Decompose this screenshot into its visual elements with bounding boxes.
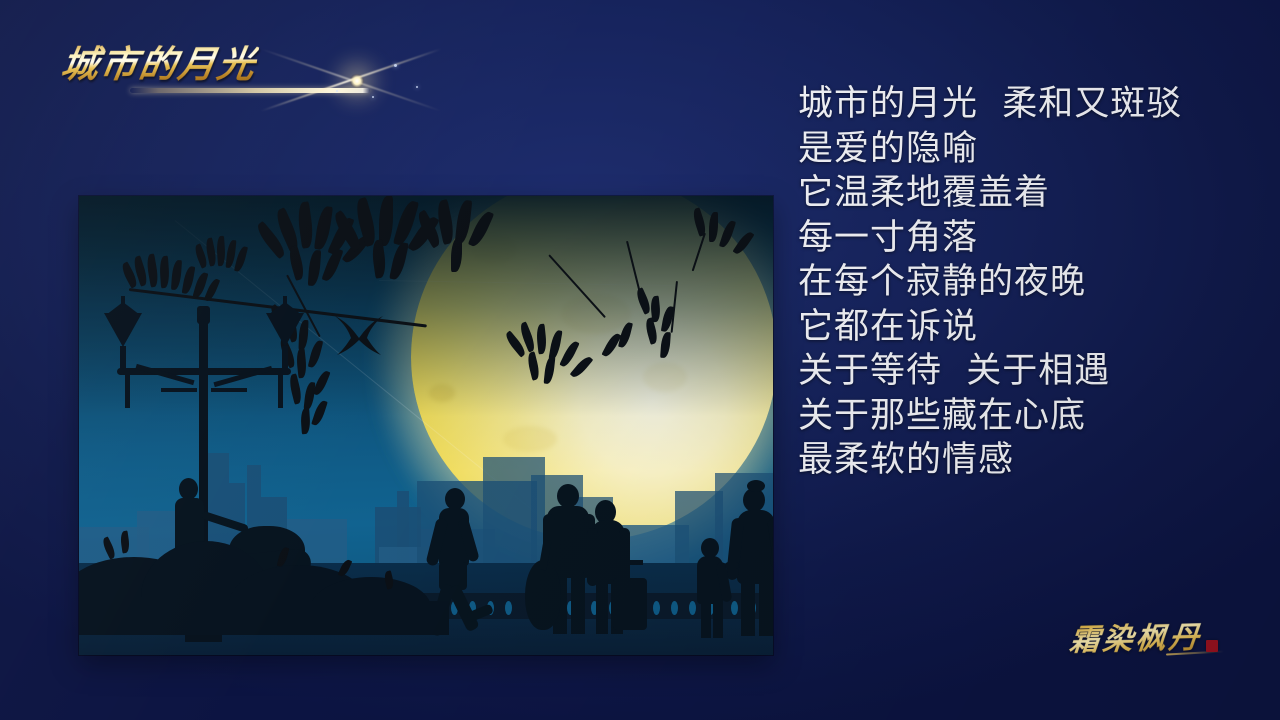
lyric-line: 是爱的隐喻 [798,127,1258,172]
page-title: 城市的月光 [58,34,262,88]
lyrics-block: 城市的月光 柔和又斑驳 是爱的隐喻 它温柔地覆盖着 每一寸角落 在每个寂静的夜晚… [798,82,1258,483]
lyric-line: 城市的月光 柔和又斑驳 [798,82,1258,127]
title-lockup: 城市的月光 [62,34,392,104]
flare-streak-icon [261,48,441,112]
lyric-line: 关于那些藏在心底 [798,394,1258,439]
flying-bird-silhouette [331,312,387,358]
red-seal-stamp [1206,640,1218,652]
moonlit-city-silhouette-photo [79,196,773,655]
flare-core-icon [350,74,364,88]
lyric-line: 每一寸角落 [798,216,1258,261]
lyric-line: 在每个寂静的夜晚 [798,260,1258,305]
lyric-line: 关于等待 关于相遇 [798,349,1258,394]
lyric-line: 最柔软的情感 [798,438,1258,483]
sparkle-icon [416,86,418,88]
lyric-line: 它温柔地覆盖着 [798,171,1258,216]
flare-streak-secondary-icon [261,48,441,112]
sparkle-icon [372,96,374,98]
lyric-line: 它都在诉说 [798,305,1258,350]
signature-watermark: 霜染枫丹 [1070,614,1230,666]
slide-canvas: 城市的月光 [0,0,1280,720]
gold-underline-bar [130,88,370,93]
sparkle-icon [394,64,397,67]
light-flare-icon [298,56,448,102]
